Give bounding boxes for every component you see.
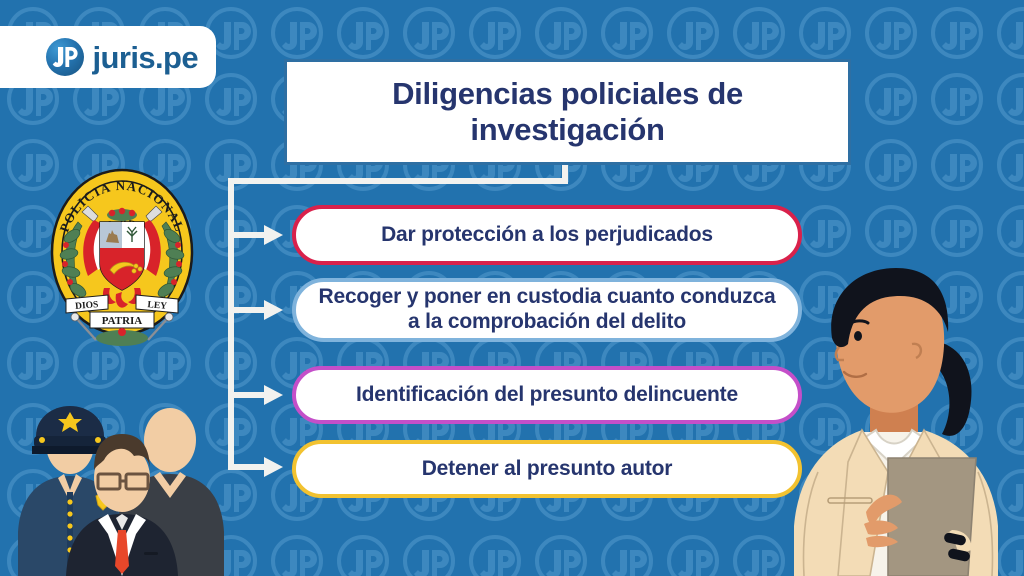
diagram-item-2[interactable]: Recoger y poner en custodia cuanto condu… [292, 278, 802, 342]
title-card: Diligencias policiales de investigación [287, 62, 848, 162]
policia-nacional-del-peru-emblem: POLICIA NACIONAL DEL PERU [42, 160, 202, 350]
diagram-item-1-label: Dar protección a los perjudicados [361, 223, 733, 248]
woman-with-folder-illustration [792, 262, 1024, 576]
juris-pe-logo-icon [46, 38, 84, 76]
brand-logo-pill[interactable]: juris.pe [0, 26, 216, 88]
page-title: Diligencias policiales de investigación [287, 76, 848, 148]
svg-text:LEY: LEY [147, 300, 167, 312]
police-officers-illustration [18, 392, 233, 576]
diagram-item-1[interactable]: Dar protección a los perjudicados [292, 205, 802, 265]
diagram-item-3[interactable]: Identificación del presunto delincuente [292, 366, 802, 424]
svg-text:PATRIA: PATRIA [102, 315, 143, 327]
brand-name: juris.pe [93, 42, 198, 73]
svg-text:DIOS: DIOS [75, 300, 99, 312]
infographic-canvas: POLICIA NACIONAL DEL PERU [0, 0, 1024, 576]
diagram-item-3-label: Identificación del presunto delincuente [336, 383, 758, 408]
diagram-item-4-label: Detener al presunto autor [402, 457, 693, 482]
diagram-item-2-label: Recoger y poner en custodia cuanto condu… [296, 285, 798, 335]
diagram-item-4[interactable]: Detener al presunto autor [292, 440, 802, 498]
